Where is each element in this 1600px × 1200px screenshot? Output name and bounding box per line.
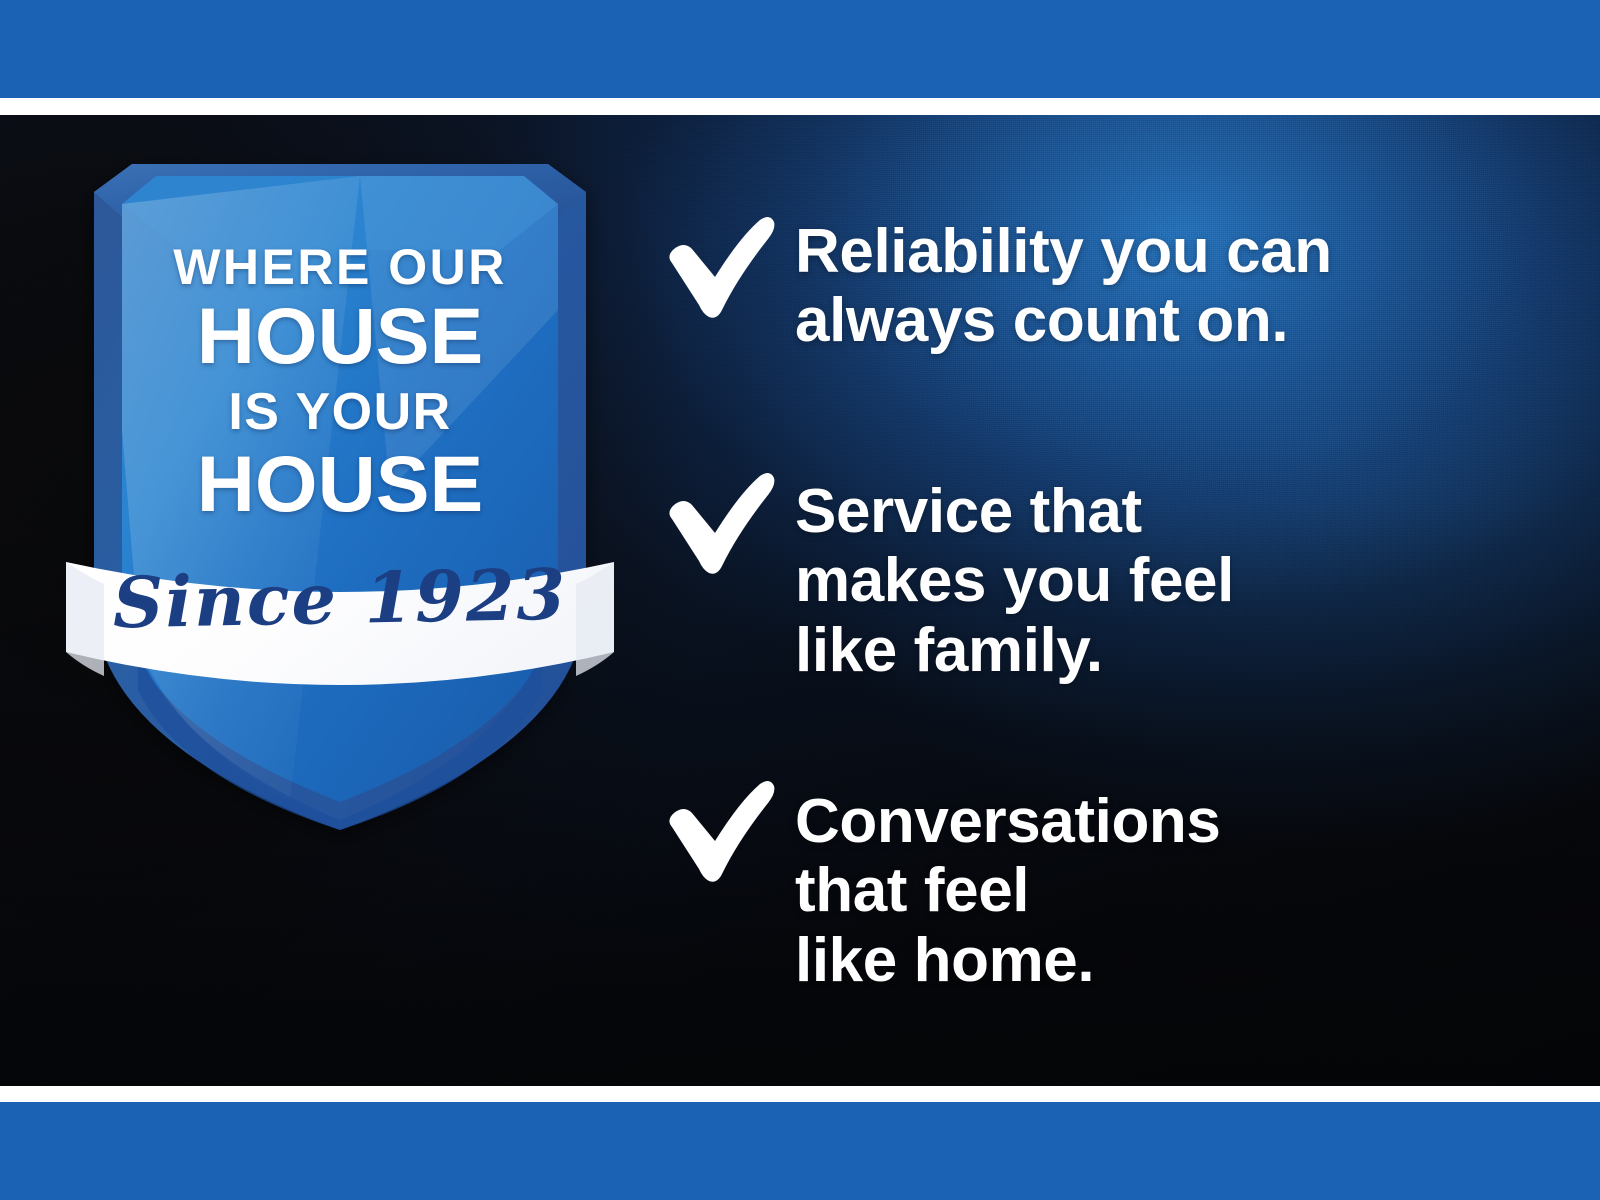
checkmark-icon bbox=[660, 467, 795, 579]
benefit-item-conversations: Conversations that feel like home. bbox=[660, 775, 1220, 995]
checkmark-icon bbox=[660, 211, 795, 323]
benefit-item-reliability: Reliability you can always count on. bbox=[660, 211, 1332, 356]
benefit-text: Reliability you can always count on. bbox=[795, 211, 1332, 356]
checkmark-icon bbox=[660, 775, 795, 887]
house-shield-badge: WHERE OUR HOUSE IS YOUR HOUSE Since 1923 bbox=[60, 130, 620, 850]
benefit-text: Service that makes you feel like family. bbox=[795, 467, 1234, 685]
bottom-brand-bar bbox=[0, 1102, 1600, 1200]
benefit-item-service-family: Service that makes you feel like family. bbox=[660, 467, 1234, 685]
top-brand-bar bbox=[0, 0, 1600, 98]
benefits-list: Reliability you can always count on. Ser… bbox=[660, 115, 1560, 1086]
benefit-text: Conversations that feel like home. bbox=[795, 775, 1220, 995]
promo-graphic-canvas: WHERE OUR HOUSE IS YOUR HOUSE Since 1923… bbox=[0, 0, 1600, 1200]
bottom-white-divider bbox=[0, 1086, 1600, 1102]
top-white-divider bbox=[0, 98, 1600, 115]
